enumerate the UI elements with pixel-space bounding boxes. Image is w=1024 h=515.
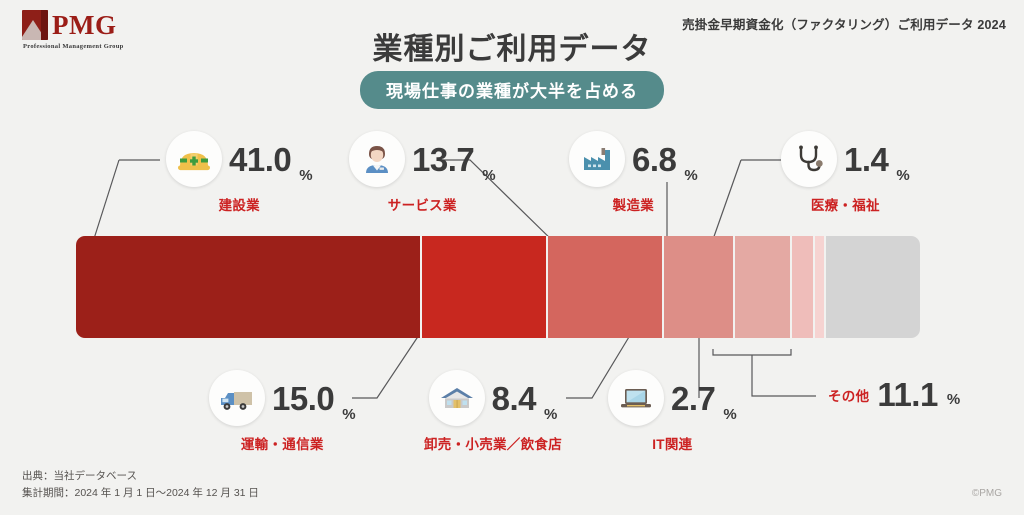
callout-other[interactable]: その他 11.1 % [828, 378, 960, 411]
label-it: IT関連 [652, 433, 692, 453]
bar-segment-service[interactable] [548, 236, 664, 338]
hard-hat-icon [166, 131, 222, 187]
subtitle-container: 現場仕事の業種が大半を占める [0, 71, 1024, 109]
callout-row: 15.0 % [209, 370, 356, 426]
percent-sign: % [299, 167, 312, 187]
bar-segment-manufacture[interactable] [735, 236, 792, 338]
value-transport: 15.0 [272, 382, 334, 415]
bar-segment-transport[interactable] [422, 236, 548, 338]
value-manufacture: 6.8 [632, 143, 676, 176]
leader-construction-d [92, 160, 119, 245]
callout-construction[interactable]: 41.0 % 建設業 [166, 131, 313, 214]
footer-notes: 出典：当社データベース 集計期間：2024 年 1 月 1 日〜2024 年 1… [22, 468, 259, 501]
infographic-canvas: PMG Professional Management Group 売掛金早期資… [0, 0, 1024, 515]
page-title: 業種別ご利用データ [0, 24, 1024, 68]
bar-segment-it[interactable] [792, 236, 815, 338]
stethoscope-icon [781, 131, 837, 187]
label-medical: 医療・福祉 [811, 194, 880, 214]
callout-row: 1.4 % [781, 131, 910, 187]
label-other: その他 [828, 385, 869, 405]
callout-row: 2.7 % [608, 370, 737, 426]
callout-medical[interactable]: 1.4 % 医療・福祉 [781, 131, 910, 214]
value-service: 13.7 [412, 143, 474, 176]
label-service: サービス業 [388, 194, 457, 214]
factory-icon [569, 131, 625, 187]
value-retail: 8.4 [492, 382, 536, 415]
percent-sign: % [723, 406, 736, 426]
stacked-bar-chart [76, 236, 920, 338]
footer-source: 出典：当社データベース [22, 468, 259, 484]
callout-retail[interactable]: 8.4 % 卸売・小売業／飲食店 [424, 370, 562, 453]
copyright-text: ©PMG [972, 488, 1002, 499]
label-manufacture: 製造業 [613, 194, 654, 214]
callout-row: 41.0 % [166, 131, 313, 187]
bar-segment-other[interactable] [826, 236, 920, 338]
store-icon [429, 370, 485, 426]
callout-it[interactable]: 2.7 % IT関連 [608, 370, 737, 453]
label-transport: 運輸・通信業 [241, 433, 324, 453]
truck-icon [209, 370, 265, 426]
value-construction: 41.0 [229, 143, 291, 176]
bar-segment-construction[interactable] [76, 236, 422, 338]
value-other: 11.1 [877, 378, 937, 411]
bar-segment-retail[interactable] [664, 236, 735, 338]
subtitle-pill: 現場仕事の業種が大半を占める [360, 71, 664, 109]
bar-segment-medical[interactable] [815, 236, 827, 338]
callout-row: 6.8 % [569, 131, 698, 187]
footer-period: 集計期間：2024 年 1 月 1 日〜2024 年 12 月 31 日 [22, 485, 259, 501]
label-retail: 卸売・小売業／飲食店 [424, 433, 562, 453]
callout-row: 8.4 % [429, 370, 558, 426]
percent-sign: % [896, 167, 909, 187]
value-medical: 1.4 [844, 143, 888, 176]
label-construction: 建設業 [219, 194, 260, 214]
callout-transport[interactable]: 15.0 % 運輸・通信業 [209, 370, 356, 453]
leader-medical-d [711, 160, 741, 245]
callout-row: 13.7 % [349, 131, 496, 187]
callout-service[interactable]: 13.7 % サービス業 [349, 131, 496, 214]
percent-sign: % [482, 167, 495, 187]
leader-transport [352, 332, 421, 398]
percent-sign: % [544, 406, 557, 426]
bracket-other [713, 349, 791, 355]
percent-sign: % [947, 391, 960, 411]
percent-sign: % [342, 406, 355, 426]
laptop-icon [608, 370, 664, 426]
callout-manufacture[interactable]: 6.8 % 製造業 [569, 131, 698, 214]
value-it: 2.7 [671, 382, 715, 415]
service-person-icon [349, 131, 405, 187]
leader-other [752, 355, 816, 396]
percent-sign: % [684, 167, 697, 187]
